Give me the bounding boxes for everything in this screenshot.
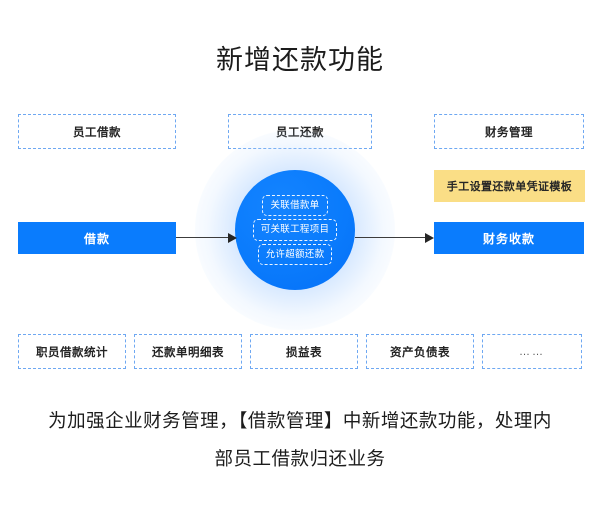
arrow-shaft xyxy=(355,237,427,238)
bottom-box-label: 职员借款统计 xyxy=(36,344,108,360)
arrow-right-icon-right xyxy=(355,233,435,243)
flow-bar-finance-receipt[interactable]: 财务收款 xyxy=(434,222,584,254)
feature-pill-link-project[interactable]: 可关联工程项目 xyxy=(253,219,338,241)
top-box-finance-management[interactable]: 财务管理 xyxy=(434,114,584,149)
bottom-box-more[interactable]: …… xyxy=(482,334,582,369)
page-caption: 为加强企业财务管理，【借款管理】中新增还款功能，处理内部员工借款归还业务 xyxy=(42,402,558,478)
arrow-head xyxy=(228,233,237,243)
page-title: 新增还款功能 xyxy=(0,38,600,77)
flow-bar-label: 借款 xyxy=(84,230,110,247)
top-box-label: 财务管理 xyxy=(485,124,533,140)
arrow-head xyxy=(425,233,434,243)
note-label: 手工设置还款单凭证模板 xyxy=(447,178,572,194)
flow-bar-label: 财务收款 xyxy=(483,230,535,247)
bottom-box-label: …… xyxy=(519,346,545,358)
slide-canvas: 新增还款功能 员工借款 员工还款 财务管理 手工设置还款单凭证模板 关联借款单 … xyxy=(0,0,600,520)
center-feature-list: 关联借款单 可关联工程项目 允许超额还款 xyxy=(235,170,355,290)
bottom-box-staff-loan-stats[interactable]: 职员借款统计 xyxy=(18,334,126,369)
bottom-box-label: 资产负债表 xyxy=(390,344,450,360)
bottom-box-balance-sheet[interactable]: 资产负债表 xyxy=(366,334,474,369)
bottom-box-label: 损益表 xyxy=(286,344,322,360)
top-box-label: 员工还款 xyxy=(276,124,324,140)
top-box-employee-repayment[interactable]: 员工还款 xyxy=(228,114,372,149)
feature-pill-link-loan[interactable]: 关联借款单 xyxy=(262,195,327,217)
top-box-label: 员工借款 xyxy=(73,124,121,140)
note-voucher-template[interactable]: 手工设置还款单凭证模板 xyxy=(434,170,585,202)
flow-bar-loan[interactable]: 借款 xyxy=(18,222,176,254)
arrow-right-icon-left xyxy=(176,233,238,243)
arrow-shaft xyxy=(176,237,230,238)
top-box-employee-loan[interactable]: 员工借款 xyxy=(18,114,176,149)
bottom-box-profit-loss[interactable]: 损益表 xyxy=(250,334,358,369)
bottom-box-label: 还款单明细表 xyxy=(152,344,224,360)
feature-pill-over-repay[interactable]: 允许超额还款 xyxy=(258,244,333,266)
bottom-box-repayment-detail[interactable]: 还款单明细表 xyxy=(134,334,242,369)
